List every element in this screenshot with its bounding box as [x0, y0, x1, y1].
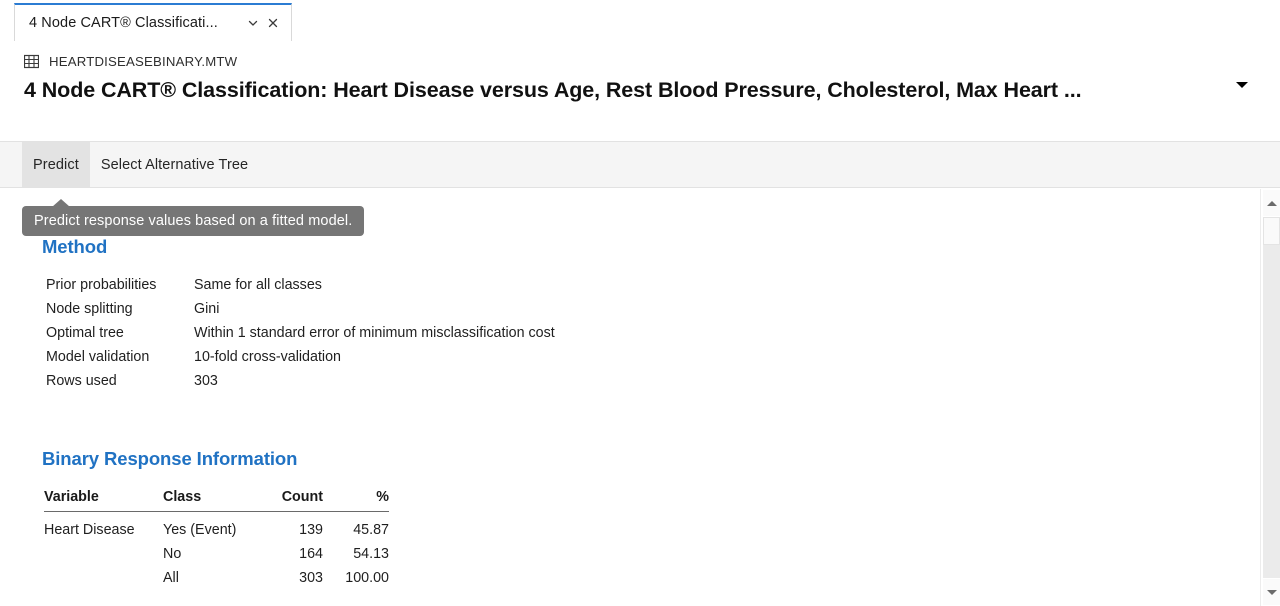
cell-count: 164 — [263, 540, 323, 564]
table-row: Heart Disease Yes (Event) 139 45.87 — [44, 512, 389, 541]
caret-down-icon — [1236, 82, 1248, 88]
worksheet-grid-icon — [24, 54, 39, 69]
cell-variable — [44, 564, 163, 588]
tab-strip: 4 Node CART® Classificati... — [0, 0, 1280, 41]
tooltip-text: Predict response values based on a fitte… — [34, 213, 352, 229]
cell-percent: 100.00 — [323, 564, 389, 588]
method-heading: Method — [42, 236, 107, 258]
cell-variable — [44, 540, 163, 564]
scroll-down-button[interactable] — [1263, 579, 1280, 605]
binary-response-table: Variable Class Count % Heart Disease Yes… — [44, 488, 389, 588]
worksheet-name: HEARTDISEASEBINARY.MTW — [49, 54, 237, 69]
scrollbar-thumb[interactable] — [1263, 217, 1280, 245]
command-select-alternative-tree[interactable]: Select Alternative Tree — [90, 142, 259, 187]
cell-count: 303 — [263, 564, 323, 588]
method-key: Node splitting — [46, 300, 194, 324]
column-header-variable: Variable — [44, 488, 163, 512]
chevron-down-icon[interactable] — [243, 12, 263, 34]
table-row: Prior probabilities Same for all classes — [46, 276, 555, 300]
command-predict-label: Predict — [33, 157, 79, 173]
table-row: Optimal tree Within 1 standard error of … — [46, 324, 555, 348]
column-header-count: Count — [263, 488, 323, 512]
method-key: Optimal tree — [46, 324, 194, 348]
method-table: Prior probabilities Same for all classes… — [46, 276, 555, 396]
command-bar: Predict Select Alternative Tree — [0, 141, 1280, 188]
method-value: 10-fold cross-validation — [194, 348, 555, 372]
method-value: 303 — [194, 372, 555, 396]
method-value: Gini — [194, 300, 555, 324]
close-icon[interactable] — [263, 12, 283, 34]
binary-response-heading: Binary Response Information — [42, 448, 297, 470]
worksheet-breadcrumb[interactable]: HEARTDISEASEBINARY.MTW — [24, 54, 237, 69]
tooltip-predict: Predict response values based on a fitte… — [22, 206, 364, 236]
table-row: All 303 100.00 — [44, 564, 389, 588]
cell-class: All — [163, 564, 263, 588]
scroll-up-arrow-icon — [1267, 201, 1277, 206]
table-row: Rows used 303 — [46, 372, 555, 396]
tab-cart-classification[interactable]: 4 Node CART® Classificati... — [14, 3, 292, 41]
method-value: Same for all classes — [194, 276, 555, 300]
cell-count: 139 — [263, 512, 323, 541]
column-header-class: Class — [163, 488, 263, 512]
column-header-percent: % — [323, 488, 389, 512]
title-dropdown-button[interactable] — [1228, 71, 1256, 99]
command-select-alternative-tree-label: Select Alternative Tree — [101, 157, 248, 173]
table-header-row: Variable Class Count % — [44, 488, 389, 512]
cell-class: No — [163, 540, 263, 564]
method-key: Rows used — [46, 372, 194, 396]
page-title: 4 Node CART® Classification: Heart Disea… — [24, 78, 1224, 103]
tab-label: 4 Node CART® Classificati... — [29, 15, 243, 31]
tooltip-arrow-icon — [52, 199, 70, 207]
cell-percent: 45.87 — [323, 512, 389, 541]
table-row: Model validation 10-fold cross-validatio… — [46, 348, 555, 372]
method-key: Model validation — [46, 348, 194, 372]
scroll-down-arrow-icon — [1267, 590, 1277, 595]
table-row: No 164 54.13 — [44, 540, 389, 564]
cell-variable: Heart Disease — [44, 512, 163, 541]
table-row: Node splitting Gini — [46, 300, 555, 324]
command-predict[interactable]: Predict — [22, 142, 90, 187]
scrollbar-track[interactable] — [1263, 217, 1280, 578]
output-header: HEARTDISEASEBINARY.MTW 4 Node CART® Clas… — [0, 41, 1280, 141]
scroll-up-button[interactable] — [1263, 190, 1280, 216]
vertical-scrollbar[interactable] — [1260, 189, 1280, 606]
cell-percent: 54.13 — [323, 540, 389, 564]
method-key: Prior probabilities — [46, 276, 194, 300]
cell-class: Yes (Event) — [163, 512, 263, 541]
method-value: Within 1 standard error of minimum miscl… — [194, 324, 555, 348]
